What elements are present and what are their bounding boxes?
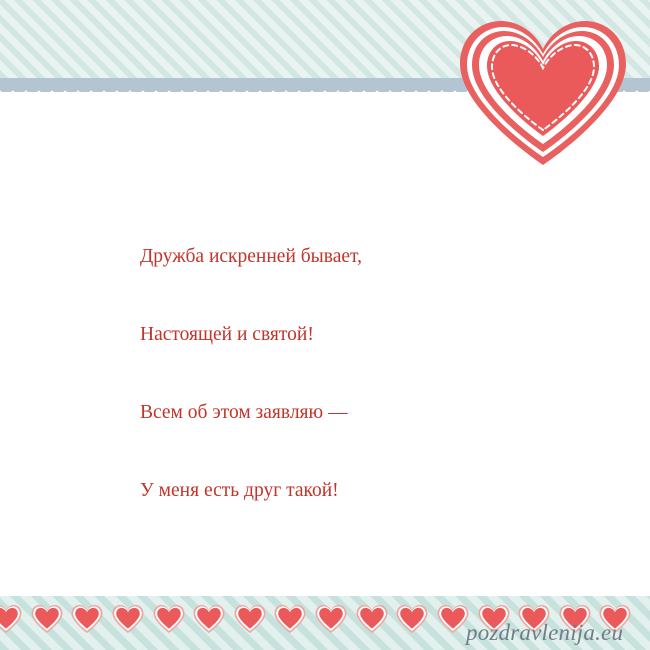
mini-heart-icon bbox=[0, 604, 22, 634]
poem-stanza: Дружба искренней бывает, Настоящей и свя… bbox=[140, 192, 580, 556]
greeting-card: Дружба искренней бывает, Настоящей и свя… bbox=[0, 0, 650, 650]
mini-heart-icon bbox=[153, 604, 185, 634]
mini-heart-icon bbox=[31, 604, 63, 634]
mini-heart-icon bbox=[315, 604, 347, 634]
mini-heart-icon bbox=[274, 604, 306, 634]
mini-heart-icon bbox=[396, 604, 428, 634]
mini-heart-icon bbox=[71, 604, 103, 634]
poem-line: Дружба искренней бывает, bbox=[140, 244, 580, 270]
poem-line: Настоящей и святой! bbox=[140, 322, 580, 348]
poem-line: Всем об этом заявляю — bbox=[140, 400, 580, 426]
mini-heart-icon bbox=[437, 604, 469, 634]
poem-line: У меня есть друг такой! bbox=[140, 478, 580, 504]
watermark-label: pozdravlenija.eu bbox=[466, 620, 623, 646]
mini-heart-icon bbox=[234, 604, 266, 634]
mini-heart-icon bbox=[356, 604, 388, 634]
mini-heart-icon bbox=[193, 604, 225, 634]
bottom-zigzag-edge bbox=[0, 572, 650, 584]
mini-heart-icon bbox=[112, 604, 144, 634]
